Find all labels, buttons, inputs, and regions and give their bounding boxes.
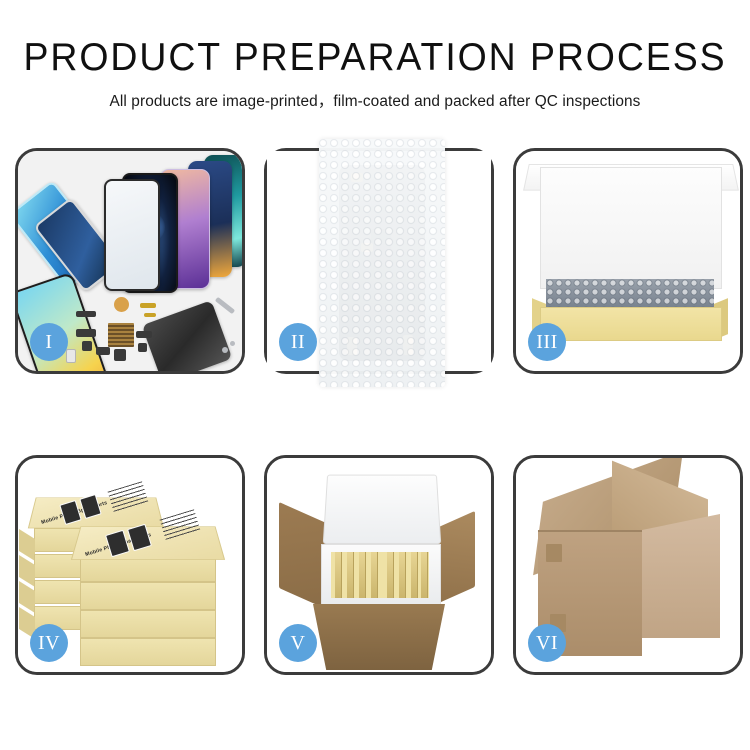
part-receiver [114,349,126,361]
carton-body-open [313,604,445,670]
panel-step-3[interactable]: III [513,148,743,374]
part-camera-module [82,341,92,351]
part-screw-2 [230,341,235,346]
page-header: PRODUCT PREPARATION PROCESS All products… [0,0,750,111]
panel-step-4[interactable]: Mobile Phone Spare Parts Mobile Phone Sp… [15,455,245,675]
carton-tape-upper [546,544,562,562]
stacked-box-r2 [80,582,216,610]
part-button-set [96,347,110,355]
screen-glass-panel [104,179,160,291]
part-speaker-bar [76,311,96,317]
part-flex-cable-1 [76,329,96,337]
bubble-wrap-sheet [319,139,445,387]
panel-step-5[interactable]: V [264,455,494,675]
part-gold-flex-2 [144,313,156,317]
panel-1-numeral-badge: I [30,323,68,361]
stacked-box-r4 [80,638,216,666]
panel-5-numeral-badge: V [279,624,317,662]
box-contents-bubblewrap [546,279,714,309]
panel-6-numeral-badge: VI [528,624,566,662]
bubblewrap-texture [546,279,714,309]
panel-4-numeral-badge: IV [30,624,68,662]
panel-3-numeral-badge: III [528,323,566,361]
stacked-box-r3 [80,610,216,638]
carton-side-face [642,514,720,638]
part-sim-card [66,349,76,363]
panel-step-2[interactable]: II [264,148,494,374]
packed-retail-boxes [331,552,429,598]
part-flex-cable-2 [136,331,152,338]
part-screw-tray [108,323,134,347]
foam-lid [323,475,442,544]
part-screw-1 [222,347,228,353]
page-subtitle: All products are image-printed，film-coat… [0,89,750,111]
panel-step-1[interactable]: I [15,148,245,374]
carton-top-seam [538,530,642,532]
panel-2-numeral-badge: II [279,323,317,361]
box-front-yellow [540,307,722,341]
part-gold-flex-1 [140,303,156,308]
part-vibration-motor [114,297,129,312]
page-title: PRODUCT PREPARATION PROCESS [15,38,735,77]
part-sim-tray [138,343,147,352]
panel-step-6[interactable]: VI [513,455,743,675]
box-lid-inner [540,167,722,289]
